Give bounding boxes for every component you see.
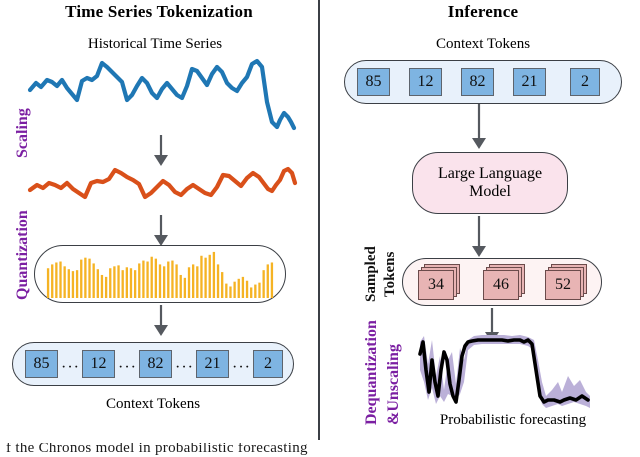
figure-canvas: Time Series Tokenization Historical Time… (0, 0, 640, 457)
left-context-token-1[interactable]: 12 (82, 350, 115, 378)
right-panel-title: Inference (330, 2, 636, 22)
forecast-plot (412, 330, 594, 414)
stage-label-dequantization: Dequantization (363, 320, 381, 425)
left-context-token-4[interactable]: 2 (253, 350, 283, 378)
sampled-token-0[interactable]: 34 (418, 270, 454, 300)
stage-label-quantization: Quantization (14, 210, 32, 300)
forecast-label: Probabilistic forecasting (398, 412, 628, 429)
left-token-ellipsis-0: ··· (61, 360, 80, 376)
right-context-token-3[interactable]: 21 (513, 68, 546, 96)
right-context-token-4[interactable]: 2 (570, 68, 600, 96)
arrow-to-sampled-tokens (468, 216, 490, 258)
sampled-tokens-label-line1: Sampled (363, 246, 380, 302)
arrow-quantization (150, 215, 172, 247)
arrow-to-llm (468, 104, 490, 150)
panel-divider (318, 0, 320, 440)
caption-fragment: f the Chronos model in probabilistic for… (0, 443, 640, 457)
arrow-scaling (150, 135, 172, 167)
right-context-tokens-label: Context Tokens (330, 36, 636, 53)
right-context-token-0[interactable]: 85 (357, 68, 390, 96)
llm-label-line1: Large Language (438, 165, 542, 183)
left-context-token-0[interactable]: 85 (25, 350, 58, 378)
left-token-ellipsis-1: ··· (118, 360, 137, 376)
right-context-token-2[interactable]: 82 (461, 68, 494, 96)
left-panel-title: Time Series Tokenization (0, 2, 318, 22)
right-context-token-1[interactable]: 12 (409, 68, 442, 96)
left-token-ellipsis-2: ··· (175, 360, 194, 376)
left-token-ellipsis-3: ··· (232, 360, 251, 376)
historical-series-plot (28, 56, 298, 134)
llm-label-line2: Model (438, 183, 542, 201)
left-context-tokens-label: Context Tokens (0, 396, 306, 413)
large-language-model-box[interactable]: Large Language Model (412, 152, 568, 214)
quantized-histogram (46, 250, 274, 298)
sampled-token-1[interactable]: 46 (483, 270, 519, 300)
arrow-tokenization (150, 305, 172, 337)
scaled-series-plot (28, 165, 298, 221)
sampled-tokens-label-line2: Tokens (382, 252, 399, 297)
sampled-token-2[interactable]: 52 (545, 270, 581, 300)
caption-text: f the Chronos model in probabilistic for… (6, 443, 640, 457)
left-context-token-3[interactable]: 21 (196, 350, 229, 378)
historical-series-label: Historical Time Series (0, 36, 310, 53)
left-context-token-2[interactable]: 82 (139, 350, 172, 378)
